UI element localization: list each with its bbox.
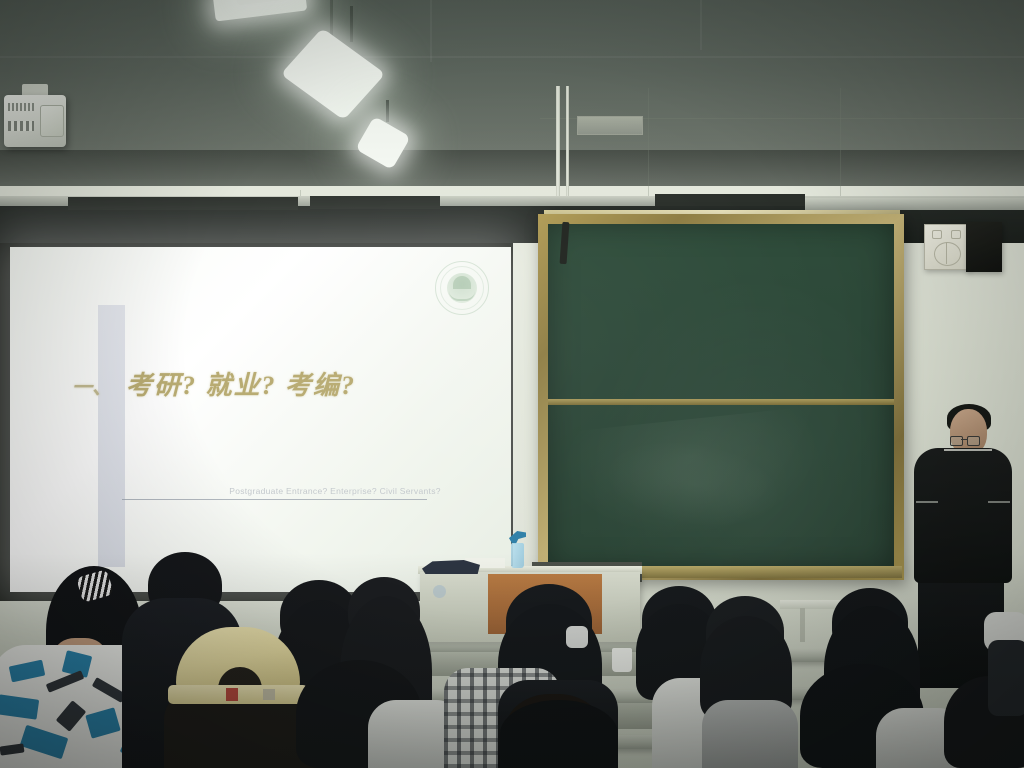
paper-cup: [612, 648, 632, 672]
sleeve-trim-left: [916, 501, 938, 503]
presenter-collar: [944, 449, 992, 467]
disinfectant-spray-bottle: [509, 531, 526, 568]
glasses-lens-right: [967, 436, 980, 446]
ceiling-seam-vertical: [430, 0, 432, 62]
rail-bracket-2: [310, 196, 440, 209]
wall-joint-line-2: [840, 88, 841, 208]
slide-subtitle: Postgraduate Entrance? Enterprise? Civil…: [175, 486, 495, 496]
presenter-torso: [914, 448, 1012, 583]
projector-vent-icon: [8, 103, 34, 111]
shirt-motif: [56, 700, 87, 731]
chalkboard-surface: [548, 224, 894, 570]
lamp-stem-3: [386, 100, 389, 122]
projector-lens: [40, 105, 64, 137]
side-table-leg: [800, 608, 805, 642]
cap-tag-grey: [263, 689, 275, 700]
projector-vent-icon-2: [8, 121, 34, 131]
shirt-motif: [0, 743, 25, 755]
slide-title-number: 一、: [72, 377, 112, 399]
ceiling-seam-vertical-2: [700, 0, 702, 50]
wall-speaker-white: [924, 224, 970, 270]
slide-divider-rule: [122, 499, 427, 500]
student-yellow-cap: [168, 627, 308, 717]
projection-screen: 一、考研? 就业? 考编? Postgraduate Entrance? Ent…: [10, 247, 511, 592]
rail-bracket-3: [655, 194, 805, 206]
student-dark-sleeve-far-right: [988, 640, 1024, 716]
tweeter-icon-right: [951, 230, 961, 239]
student-foreground-head: [500, 700, 618, 768]
shirt-motif: [85, 707, 120, 738]
chalkboard-frame: [538, 214, 904, 580]
shirt-motif: [9, 660, 46, 683]
rail-bracket-4: [805, 198, 1024, 210]
ceiling-seam: [0, 56, 1024, 58]
cap-adjuster-band: [168, 685, 308, 704]
rail-bracket-1: [68, 197, 298, 210]
spray-bottle-body: [511, 543, 524, 568]
lamp-stem-2: [350, 6, 353, 42]
shirt-motif: [46, 670, 85, 693]
slide-title-text: 考研? 就业? 考编?: [126, 371, 356, 400]
cap-tag-red: [226, 688, 238, 701]
air-vent-grille: [577, 116, 643, 135]
wall-speaker-black: [966, 222, 1002, 272]
slide-title: 一、考研? 就业? 考编?: [72, 365, 492, 402]
tweeter-icon-left: [932, 230, 942, 239]
shirt-motif: [0, 694, 39, 719]
classroom-photo: 一、考研? 就业? 考编? Postgraduate Entrance? Ent…: [0, 0, 1024, 768]
seal-arch-icon: [453, 276, 471, 289]
presenter-glasses-icon: [950, 436, 978, 444]
slide-decoration-bar: [98, 305, 125, 567]
sleeve-trim-right: [988, 501, 1010, 503]
podium-badge-icon: [433, 585, 446, 598]
chalkboard-middle-rail: [548, 399, 894, 405]
university-seal-logo: [435, 261, 489, 315]
student-face-mask: [566, 626, 588, 648]
ceiling-projector: [4, 95, 66, 147]
student-grey-hoodie: [702, 700, 798, 768]
glasses-lens-left: [950, 436, 963, 446]
shirt-motif: [20, 725, 69, 760]
speaker-cone-icon: [934, 242, 961, 266]
